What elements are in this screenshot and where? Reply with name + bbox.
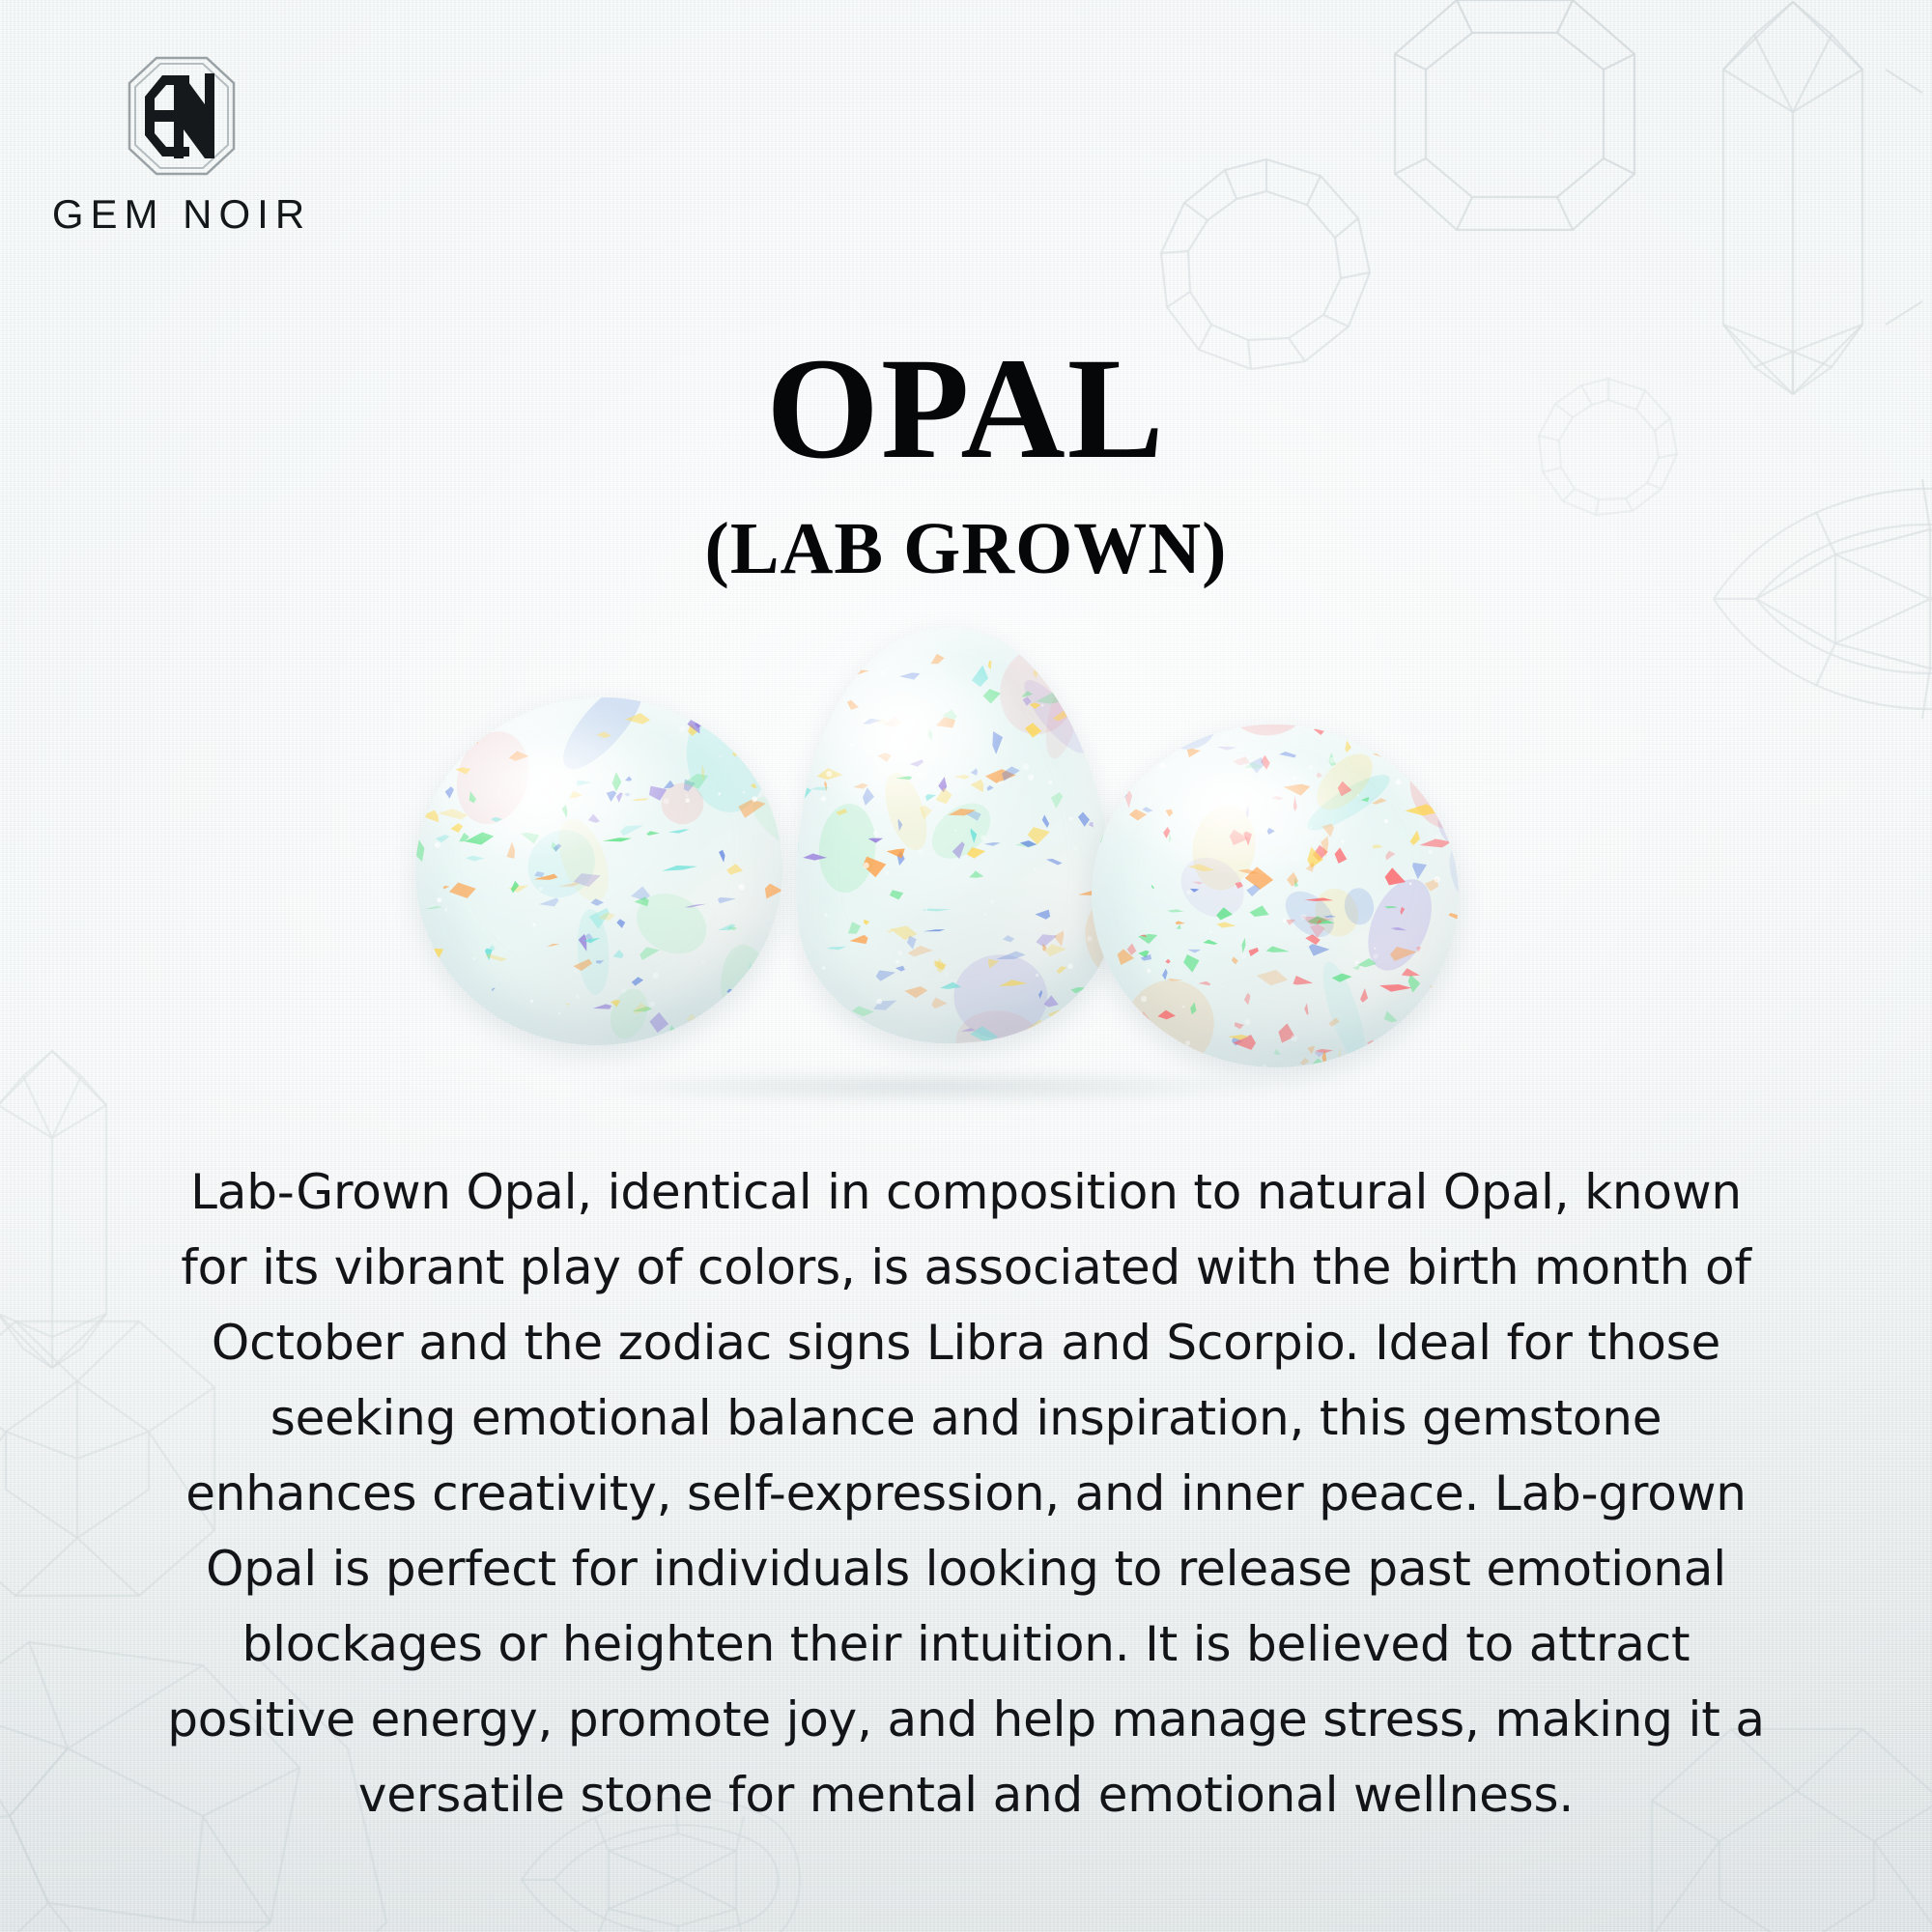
description-line: seeking emotional balance and inspiratio… <box>145 1380 1787 1456</box>
pear-opal-center <box>778 617 1124 1054</box>
oval-opal-left <box>398 679 800 1064</box>
gemstone-cluster-image <box>0 628 1932 1140</box>
description-paragraph: Lab-Grown Opal, identical in composition… <box>145 1154 1787 1833</box>
brand-lockup[interactable]: GEM NOIR <box>37 52 327 238</box>
description-line: Lab-Grown Opal, identical in composition… <box>145 1154 1787 1230</box>
heading-block: OPAL (LAB GROWN) <box>0 336 1932 585</box>
page-subtitle: (LAB GROWN) <box>0 512 1932 585</box>
opal-play-of-color-right <box>1083 715 1467 1076</box>
page-title: OPAL <box>0 336 1932 481</box>
description-line: for its vibrant play of colors, is assoc… <box>145 1230 1787 1305</box>
description-line: positive energy, promote joy, and help m… <box>145 1682 1787 1757</box>
opal-play-of-color-center <box>778 617 1124 1054</box>
description-line: versatile stone for mental and emotional… <box>145 1757 1787 1833</box>
gem-drop-shadow <box>464 1065 1410 1109</box>
brand-name: GEM NOIR <box>37 191 327 238</box>
description-line: enhances creativity, self-expression, an… <box>145 1456 1787 1531</box>
description-line: blockages or heighten their intuition. I… <box>145 1606 1787 1682</box>
opal-play-of-color-left <box>398 679 800 1064</box>
description-line: October and the zodiac signs Libra and S… <box>145 1305 1787 1380</box>
watermark-octagon-gem-icon <box>1389 0 1640 236</box>
description-line: Opal is perfect for individuals looking … <box>145 1531 1787 1606</box>
gemstone-info-card: GEM NOIR OPAL (LAB GROWN) Lab-Grown Opal… <box>0 0 1932 1932</box>
round-opal-right <box>1083 715 1467 1076</box>
octagon-gem-monogram-icon <box>37 52 327 180</box>
